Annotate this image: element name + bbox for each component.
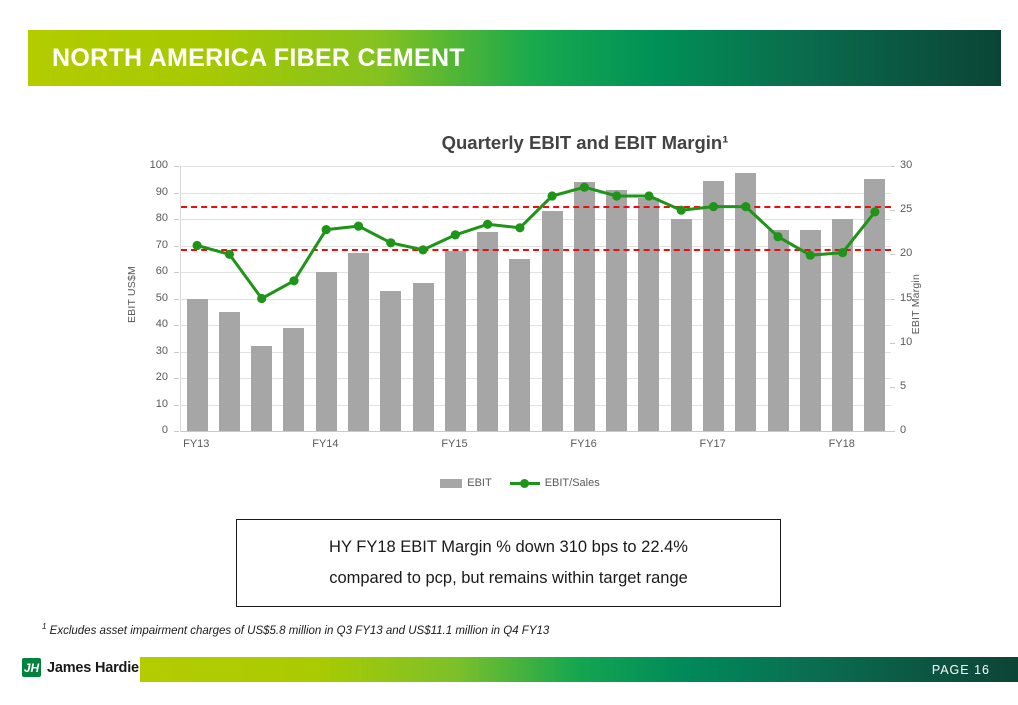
- callout-box: HY FY18 EBIT Margin % down 310 bps to 22…: [236, 519, 781, 607]
- y-axis-right-tick-label: 0: [900, 425, 930, 436]
- page-title: NORTH AMERICA FIBER CEMENT: [52, 44, 465, 73]
- y-axis-right-tick-label: 10: [900, 337, 930, 348]
- y-axis-left-tick-label: 10: [134, 399, 168, 410]
- brand-logo-text: James Hardie: [47, 660, 139, 676]
- y-axis-left-tick-label: 40: [134, 319, 168, 330]
- y-axis-tick-mark: [174, 431, 179, 432]
- y-axis-right-title: EBIT Margin: [910, 274, 922, 334]
- y-axis-left-tick-label: 30: [134, 346, 168, 357]
- y-axis-right-tick-label: 30: [900, 160, 930, 171]
- line-marker: [741, 202, 750, 211]
- line-marker: [838, 248, 847, 257]
- footnote-text: Excludes asset impairment charges of US$…: [50, 625, 550, 637]
- y-axis-right-tick-label: 15: [900, 293, 930, 304]
- legend-bar-swatch-icon: [440, 479, 462, 488]
- line-marker: [451, 230, 460, 239]
- y-axis-tick-mark: [174, 299, 179, 300]
- line-marker: [612, 191, 621, 200]
- page-number: PAGE 16: [932, 663, 990, 677]
- footnote-marker: 1: [42, 622, 46, 631]
- jh-monogram-icon: JH: [22, 658, 41, 677]
- chart-container: Quarterly EBIT and EBIT Margin¹ EBIT US$…: [120, 132, 920, 512]
- line-marker: [677, 206, 686, 215]
- plot-wrapper: EBIT US$M EBIT Margin 010203040506070809…: [120, 166, 920, 466]
- legend-item-ebit: EBIT: [440, 477, 491, 489]
- line-path: [197, 187, 875, 298]
- y-axis-left-tick-label: 60: [134, 266, 168, 277]
- plot-area: [180, 166, 891, 432]
- line-marker: [418, 245, 427, 254]
- y-axis-left-tick-label: 100: [134, 160, 168, 171]
- line-marker: [225, 250, 234, 259]
- y-axis-left-tick-label: 50: [134, 293, 168, 304]
- line-marker: [257, 294, 266, 303]
- line-marker: [483, 220, 492, 229]
- line-marker: [773, 232, 782, 241]
- line-marker: [386, 238, 395, 247]
- y-axis-tick-mark: [174, 246, 179, 247]
- y-axis-tick-mark: [174, 272, 179, 273]
- line-series-ebit-sales: [181, 166, 891, 431]
- y-axis-left-tick-label: 20: [134, 372, 168, 383]
- y-axis-tick-mark: [174, 352, 179, 353]
- y-axis-right-tick-label: 5: [900, 381, 930, 392]
- y-axis-left-tick-label: 80: [134, 213, 168, 224]
- x-axis-label: FY17: [700, 438, 726, 450]
- y-axis-tick-mark: [174, 166, 179, 167]
- line-marker: [870, 207, 879, 216]
- x-axis-label: FY14: [312, 438, 338, 450]
- y-axis-tick-mark: [174, 378, 179, 379]
- brand-logo: JH James Hardie: [22, 658, 139, 677]
- line-marker: [289, 276, 298, 285]
- footer-gradient-bar: PAGE 16: [140, 657, 1018, 682]
- y-axis-left-tick-label: 0: [134, 425, 168, 436]
- line-marker: [644, 191, 653, 200]
- y-axis-tick-mark: [174, 193, 179, 194]
- line-marker: [580, 183, 589, 192]
- slide-footer: JH James Hardie PAGE 16: [0, 655, 1018, 685]
- line-marker: [806, 251, 815, 260]
- x-axis-label: FY15: [441, 438, 467, 450]
- y-axis-right-tick-label: 20: [900, 248, 930, 259]
- footnote: 1 Excludes asset impairment charges of U…: [42, 622, 549, 637]
- slide-header-banner: NORTH AMERICA FIBER CEMENT: [28, 30, 1001, 86]
- chart-title-text: Quarterly EBIT and EBIT Margin¹: [442, 132, 729, 153]
- legend-item-ebit-sales: EBIT/Sales: [510, 477, 600, 489]
- line-marker: [548, 191, 557, 200]
- callout-line-1: HY FY18 EBIT Margin % down 310 bps to 22…: [329, 532, 688, 563]
- line-marker: [193, 241, 202, 250]
- y-axis-tick-mark: [174, 219, 179, 220]
- line-marker: [709, 202, 718, 211]
- y-axis-tick-mark: [174, 405, 179, 406]
- legend-label-ebit-sales: EBIT/Sales: [545, 477, 600, 489]
- x-axis-label: FY16: [570, 438, 596, 450]
- chart-legend: EBIT EBIT/Sales: [120, 477, 920, 489]
- legend-label-ebit: EBIT: [467, 477, 491, 489]
- y-axis-left-tick-label: 70: [134, 240, 168, 251]
- callout-line-2: compared to pcp, but remains within targ…: [329, 563, 688, 594]
- line-marker: [515, 223, 524, 232]
- x-axis-label: FY13: [183, 438, 209, 450]
- chart-title: Quarterly EBIT and EBIT Margin¹: [250, 132, 920, 154]
- line-marker: [354, 222, 363, 231]
- line-marker: [322, 225, 331, 234]
- y-axis-tick-mark: [174, 325, 179, 326]
- x-axis-label: FY18: [829, 438, 855, 450]
- y-axis-right-tick-label: 25: [900, 204, 930, 215]
- legend-line-marker-icon: [510, 478, 540, 489]
- y-axis-left-tick-label: 90: [134, 187, 168, 198]
